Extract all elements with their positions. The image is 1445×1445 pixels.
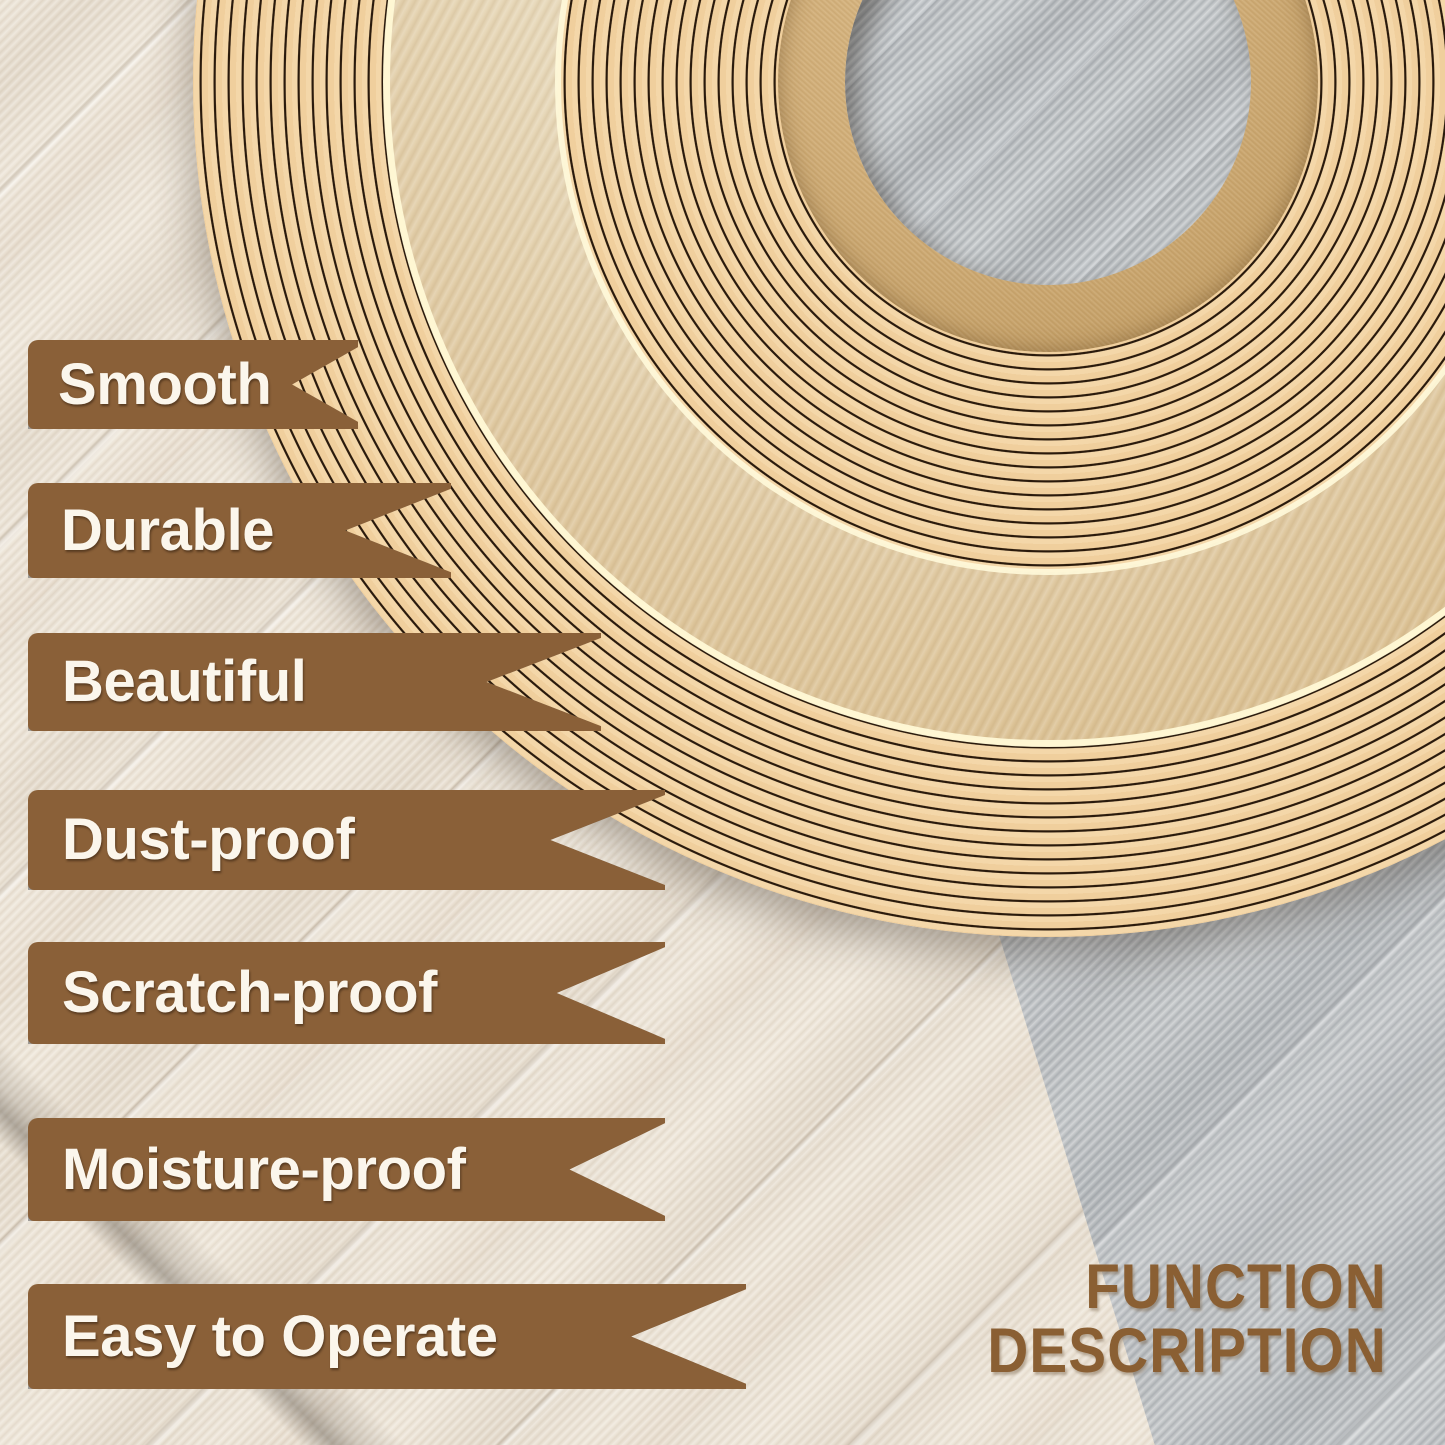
headline-line-1: FUNCTION bbox=[988, 1255, 1387, 1319]
feature-label: Dust-proof bbox=[62, 811, 354, 869]
feature-label: Beautiful bbox=[62, 653, 307, 711]
feature-label: Easy to Operate bbox=[62, 1308, 498, 1366]
feature-banner-moisture-proof: Moisture-proof bbox=[28, 1118, 665, 1221]
feature-label: Moisture-proof bbox=[62, 1141, 466, 1199]
product-feature-graphic: Smooth Durable Beautiful Dust-proof Scra… bbox=[0, 0, 1445, 1445]
feature-label: Smooth bbox=[58, 356, 271, 414]
headline-line-2: DESCRIPTION bbox=[988, 1319, 1387, 1383]
headline-function-description: FUNCTION DESCRIPTION bbox=[988, 1255, 1387, 1384]
feature-label: Durable bbox=[61, 502, 274, 560]
feature-label: Scratch-proof bbox=[62, 964, 437, 1022]
